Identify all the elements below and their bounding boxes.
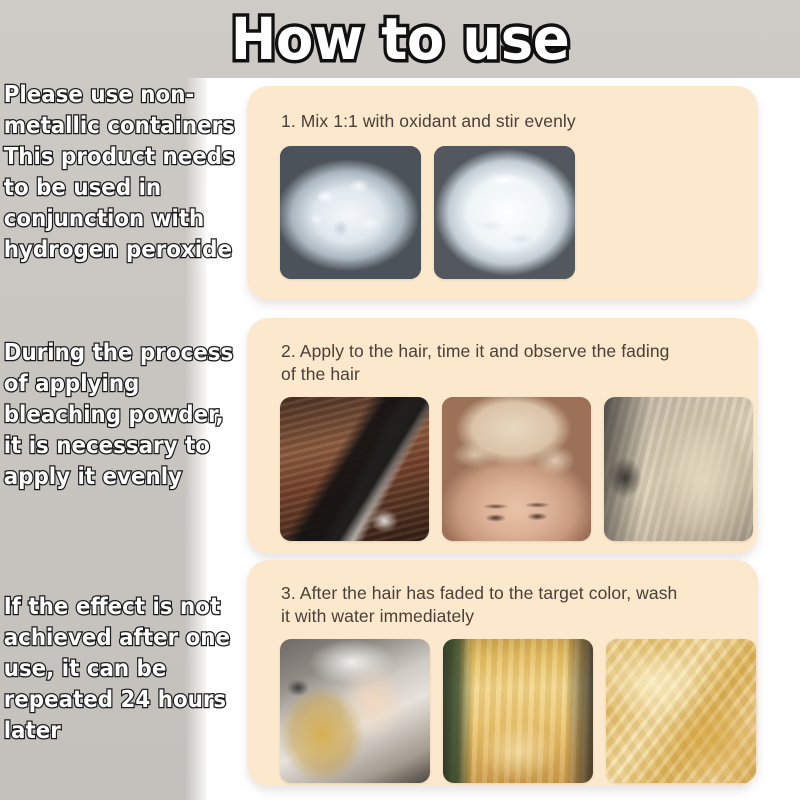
step-card-3: 3. After the hair has faded to the targe…	[247, 560, 758, 786]
bleach-on-scalp-photo	[442, 397, 591, 541]
photo-surface	[442, 397, 591, 541]
rinsing-hair-at-basin-photo	[280, 639, 430, 783]
photo-surface	[434, 146, 575, 279]
photo-surface	[443, 639, 593, 783]
step-2-heading: 2. Apply to the hair, time it and observ…	[247, 318, 758, 386]
step-2-photos	[247, 386, 758, 541]
note-even-application: During the process of applying bleaching…	[0, 338, 244, 493]
note-line: later	[4, 716, 244, 747]
step-heading-line: 1. Mix 1:1 with oxidant and stir evenly	[281, 111, 576, 131]
note-line: achieved after one	[4, 623, 244, 654]
step-heading-line: it with water immediately	[281, 606, 474, 626]
step-3-photos	[247, 628, 758, 783]
photo-surface	[280, 639, 430, 783]
note-line: apply it evenly	[4, 462, 244, 493]
step-1-photos	[247, 133, 758, 279]
note-line: During the process	[4, 338, 244, 369]
note-line: use, it can be	[4, 654, 244, 685]
photo-surface	[606, 639, 756, 783]
blonde-hair-closeup-photo	[606, 639, 756, 783]
note-line: hydrogen peroxide	[4, 235, 253, 266]
note-line: Please use non-	[4, 80, 253, 111]
note-containers: Please use non- metallic containers This…	[0, 80, 253, 266]
note-line: If the effect is not	[4, 592, 244, 623]
photo-surface	[604, 397, 753, 541]
golden-blonde-result-photo	[443, 639, 593, 783]
step-3-heading: 3. After the hair has faded to the targe…	[247, 560, 758, 628]
mixed-cream-in-bowl-photo	[434, 146, 575, 279]
note-line: to be used in	[4, 173, 253, 204]
photo-surface	[280, 146, 421, 279]
note-line: metallic containers	[4, 111, 253, 142]
step-card-2: 2. Apply to the hair, time it and observ…	[247, 318, 758, 554]
step-heading-line: 2. Apply to the hair, time it and observ…	[281, 341, 670, 361]
photo-surface	[280, 397, 429, 541]
processing-blonde-hair-photo	[604, 397, 753, 541]
page-title: How to use	[24, 8, 776, 70]
step-heading-line: 3. After the hair has faded to the targe…	[281, 583, 677, 603]
note-line: it is necessary to	[4, 431, 244, 462]
infographic-root: How to use Please use non- metallic cont…	[0, 0, 800, 800]
step-card-1: 1. Mix 1:1 with oxidant and stir evenly	[247, 86, 758, 300]
bleach-powder-in-bowl-photo	[280, 146, 421, 279]
note-line: conjunction with	[4, 204, 253, 235]
step-heading-line: of the hair	[281, 364, 360, 384]
note-line: repeated 24 hours	[4, 685, 244, 716]
brush-applying-bleach-photo	[280, 397, 429, 541]
step-1-heading: 1. Mix 1:1 with oxidant and stir evenly	[247, 86, 758, 133]
note-line: of applying	[4, 369, 244, 400]
note-line: This product needs	[4, 142, 253, 173]
note-repeat: If the effect is not achieved after one …	[0, 592, 244, 747]
note-line: bleaching powder,	[4, 400, 244, 431]
